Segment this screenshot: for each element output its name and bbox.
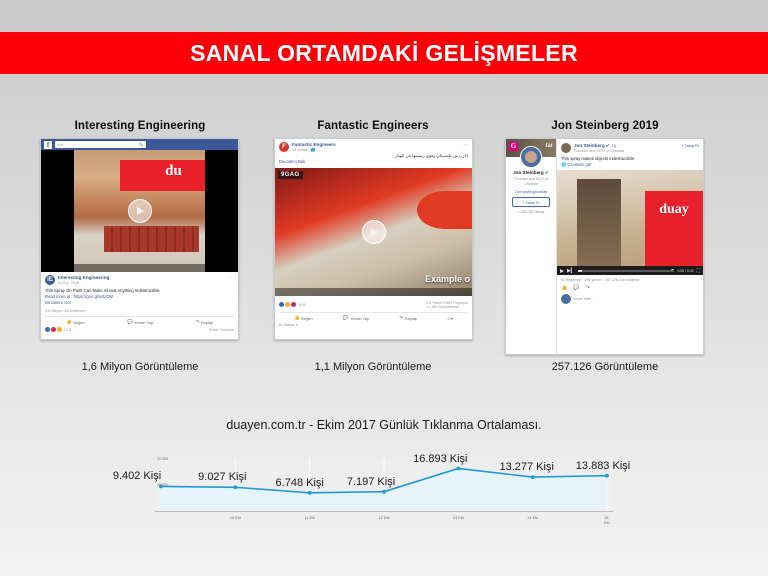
chart-caption: duayen.com.tr - Ekim 2017 Günlük Tıklanm… — [0, 418, 768, 432]
verified-icon: ✔ — [606, 143, 610, 148]
share-label: Paylaş — [201, 320, 213, 325]
x-tick-3: 12 Eki — [378, 515, 389, 520]
like-button[interactable]: 👍 Beğen — [294, 315, 313, 321]
comment-label: Yorum Yap — [134, 320, 153, 325]
reaction-like-icon — [279, 302, 284, 307]
reaction-haha-icon — [285, 302, 290, 307]
card-heading-jon-steinberg: Jon Steinberg 2019 — [505, 120, 705, 132]
thumbs-up-icon: 👍 — [66, 319, 72, 325]
avatar[interactable] — [561, 143, 571, 153]
follow-label: Takip Et — [526, 200, 540, 205]
thumbs-up-icon: 👍 — [294, 315, 300, 321]
data-label-0: 9.402 Kişi — [113, 470, 161, 482]
chart-point-4 — [456, 467, 460, 471]
follow-button[interactable]: + Takip Et — [512, 197, 550, 207]
avatar[interactable] — [561, 294, 571, 304]
view-full-profile-link[interactable]: Tüm profili görüntüle — [506, 190, 556, 194]
follower-count: 1.338.238 Takipçi — [506, 210, 556, 214]
page-title: SANAL ORTAMDAKİ GELİŞMELER — [190, 40, 578, 67]
like-button[interactable]: 👍 Beğen — [66, 319, 85, 325]
post-column: + Takip Et Jon Steinberg ✔ 1g Founder an… — [557, 139, 703, 354]
reaction-summary-2[interactable]: 19 B 1,8 Yorum 4.887 Paylaşım 1,1 Mn Gör… — [279, 301, 468, 309]
play-icon[interactable] — [362, 220, 386, 244]
profile-sidebar: G lar Jon Steinberg ✔ Founder and CEO of… — [506, 139, 557, 354]
facebook-post-card-1[interactable]: f Ara 🔍 du IE Interesting Engineering 21… — [40, 138, 239, 340]
comment-label: Yorum Yap — [350, 316, 369, 321]
comment-icon: 💬 — [127, 319, 133, 325]
video-person-3 — [577, 179, 621, 276]
top-follow-link[interactable]: + Takip Et — [681, 143, 699, 148]
play-icon[interactable] — [128, 199, 152, 223]
reaction-like-icon — [45, 327, 50, 332]
chart-point-1 — [233, 485, 237, 489]
see-translation-link[interactable]: 🌐 Çevirisini gör — [561, 162, 699, 168]
data-label-2: 6.748 Kişi — [276, 477, 324, 489]
post-actions-3: 👍 💬 ↷ — [561, 285, 699, 291]
chart-x-axis: 10 Eki11 Eki12 Eki13 Eki14 Eki15 Eki — [155, 511, 613, 526]
caption-views-3: 257.126 Görüntüleme — [505, 361, 705, 373]
card-heading-fantastic-engineers: Fantastic Engineers — [274, 120, 472, 132]
x-tick-2: 11 Eki — [304, 515, 315, 520]
reaction-love-icon — [51, 327, 56, 332]
facebook-post-card-2[interactable]: F Fantastic Engineers 13 Şubat · 🌎 ⋯ الا… — [274, 138, 473, 340]
data-label-1: 9.027 Kişi — [198, 471, 246, 483]
avatar[interactable] — [520, 146, 542, 168]
data-label-4: 16.893 Kişi — [413, 453, 467, 465]
facebook-logo-icon[interactable]: f — [44, 141, 52, 149]
more-options-icon[interactable]: ⋯ — [229, 275, 234, 281]
x-tick-5: 14 Eki — [527, 515, 538, 520]
video-progress-bar[interactable] — [578, 270, 675, 272]
watermark-9gag: 9GAG — [278, 171, 303, 179]
post-body-1: IE Interesting Engineering 21 Eyl. 2018 … — [41, 272, 238, 335]
comment-button[interactable]: 💬 Yorum Yap — [127, 319, 153, 325]
post-footer-2: 19 B 1,8 Yorum 4.887 Paylaşım 1,1 Mn Gör… — [275, 296, 472, 331]
chart-point-5 — [531, 475, 535, 479]
all-comments-link[interactable]: Bütün Yorumlar — [209, 328, 234, 332]
next-icon[interactable]: ▶▎ — [567, 268, 575, 274]
share-label: Paylaş — [405, 316, 417, 321]
like-label: Beğen — [301, 316, 313, 321]
like-label: Beğen — [73, 320, 85, 325]
reaction-count: 12 B — [64, 328, 71, 332]
comment-icon[interactable]: 💬 — [573, 285, 579, 291]
data-label-6: 13.883 Kişi — [576, 460, 630, 472]
post-header-2: F Fantastic Engineers 13 Şubat · 🌎 ⋯ — [279, 142, 468, 153]
post-author-role: Founder and CEO of Cheddar — [574, 149, 699, 154]
x-tick-4: 13 Eki — [453, 515, 464, 520]
post-header-1: IE Interesting Engineering 21 Eyl. 2018 … — [45, 275, 234, 286]
globe-icon: 🌎 — [311, 148, 316, 152]
play-icon[interactable] — [560, 269, 564, 273]
post-see-more[interactable]: Devamını Bak — [279, 159, 468, 165]
video-controls-2[interactable] — [275, 288, 472, 296]
video-player-3[interactable]: duay ▶▎ 0:05 / 0:43 ⛶ — [557, 170, 703, 275]
reaction-summary-1[interactable]: 12 B Bütün Yorumlar — [45, 327, 234, 332]
video-controls-1[interactable] — [41, 264, 238, 272]
comment-button[interactable]: 💬 Yorum Yap — [343, 315, 369, 321]
video-brand-text-3: duay — [659, 202, 700, 229]
facebook-topbar-1: f Ara 🔍 — [41, 139, 238, 150]
reaction-haha-icon — [57, 327, 62, 332]
slide-root: SANAL ORTAMDAKİ GELİŞMELER Interesting E… — [0, 0, 768, 576]
plus-icon: + — [522, 200, 524, 205]
card3-layout: G lar Jon Steinberg ✔ Founder and CEO of… — [506, 139, 703, 354]
facebook-post-card-3[interactable]: G lar Jon Steinberg ✔ Founder and CEO of… — [505, 138, 704, 355]
post-footer-3: 41 Beğenme · 296 yorum · 257.126 Görüntü… — [557, 275, 703, 307]
video-controls-3[interactable]: ▶▎ 0:05 / 0:43 ⛶ — [557, 266, 703, 275]
title-banner: SANAL ORTAMDAKİ GELİŞMELER — [0, 32, 768, 74]
chart-point-6 — [605, 474, 609, 478]
chart-point-2 — [308, 491, 312, 495]
profile-role: Founder and CEO of Cheddar — [506, 177, 556, 187]
more-options-icon[interactable]: ⋯ — [463, 142, 468, 148]
reaction-count: 19 B — [298, 303, 305, 307]
video-overlay-text: Example o — [425, 274, 470, 284]
post-see-more[interactable]: Devamını Gör — [45, 300, 234, 306]
post-engagement-stats: 41 Beğenme · 296 yorum · 257.126 Görüntü… — [561, 278, 699, 282]
verified-icon: ✔ — [545, 170, 549, 175]
video-player-1[interactable]: du — [41, 150, 238, 272]
chart-point-3 — [382, 490, 386, 494]
comment-composer[interactable]: Yorum ekle... — [561, 294, 699, 304]
share-button[interactable]: ↷ Paylaş — [399, 315, 416, 321]
cover-title: lar — [546, 143, 553, 149]
post-text-arabic: الان رش بلاستيكي وقوي رسمتها في الهدار — [279, 153, 468, 160]
post-header-3: Jon Steinberg ✔ 1g Founder and CEO of Ch… — [561, 143, 699, 154]
globe-icon: 🌐 — [561, 162, 566, 167]
analytics-chart[interactable]: 20.000 10.000 10 Eki11 Eki12 Eki13 Eki14… — [155, 457, 613, 525]
post-timestamp: 21 Eyl. 2018 · — [58, 281, 226, 286]
post-engagement-stats: 1,8 Yorum 4.887 Paylaşım 1,1 Mn Görüntül… — [426, 301, 468, 309]
share-icon: ↷ — [399, 315, 403, 321]
fullscreen-icon[interactable]: ⛶ — [696, 268, 700, 274]
avatar[interactable]: IE — [45, 275, 55, 285]
post-header-block-2: F Fantastic Engineers 13 Şubat · 🌎 ⋯ الا… — [275, 139, 472, 168]
comment-icon: 💬 — [343, 315, 349, 321]
card-heading-interesting-engineering: Interesting Engineering — [40, 120, 240, 132]
search-input[interactable]: Ara 🔍 — [55, 141, 146, 148]
video-time: 0:05 / 0:43 — [677, 269, 693, 273]
caption-views-2: 1,1 Milyon Görüntüleme — [274, 361, 472, 373]
video-player-2[interactable]: 9GAG Example o — [275, 168, 472, 296]
post-actions-1: 👍 Beğen 💬 Yorum Yap ↷ Paylaş — [45, 316, 234, 326]
comment-placeholder: Yorum ekle... — [573, 297, 594, 301]
video-brand-2 — [417, 191, 472, 229]
video-brand-text-1: du — [165, 163, 202, 186]
post-view-count: 1,6 Milyon Görüntüleme — [45, 309, 234, 313]
profile-name: Jon Steinberg ✔ — [506, 170, 556, 176]
x-tick-6: 15 Eki — [604, 515, 610, 525]
data-label-3: 7.197 Kişi — [347, 476, 395, 488]
share-button[interactable]: ↷ Paylaş — [196, 319, 213, 325]
thumbs-up-icon[interactable]: 👍 — [561, 285, 567, 291]
post-time: 1g — [611, 143, 616, 148]
share-icon: ↷ — [196, 319, 200, 325]
y-tick-10000: 10.000 — [157, 483, 168, 487]
search-icon[interactable]: 🔍 — [139, 142, 144, 147]
comment-sort-dropdown[interactable]: En Alakalı ▾ — [279, 323, 468, 327]
reaction-selector-icon[interactable]: ☺▾ — [447, 315, 453, 321]
caption-views-1: 1,6 Milyon Görüntüleme — [40, 361, 240, 373]
avatar[interactable]: F — [279, 142, 289, 152]
post-actions-2: 👍 Beğen 💬 Yorum Yap ↷ Paylaş ☺▾ — [279, 312, 468, 322]
video-bricks-1 — [104, 226, 199, 253]
y-tick-20000: 20.000 — [157, 457, 168, 461]
reaction-love-icon — [291, 302, 296, 307]
brand-badge-icon: G — [509, 142, 518, 151]
share-icon[interactable]: ↷ — [585, 285, 589, 291]
search-placeholder: Ara — [57, 142, 63, 147]
data-label-5: 13.277 Kişi — [499, 461, 553, 473]
post-timestamp: 13 Şubat · 🌎 — [292, 148, 460, 153]
x-tick-1: 10 Eki — [230, 515, 241, 520]
